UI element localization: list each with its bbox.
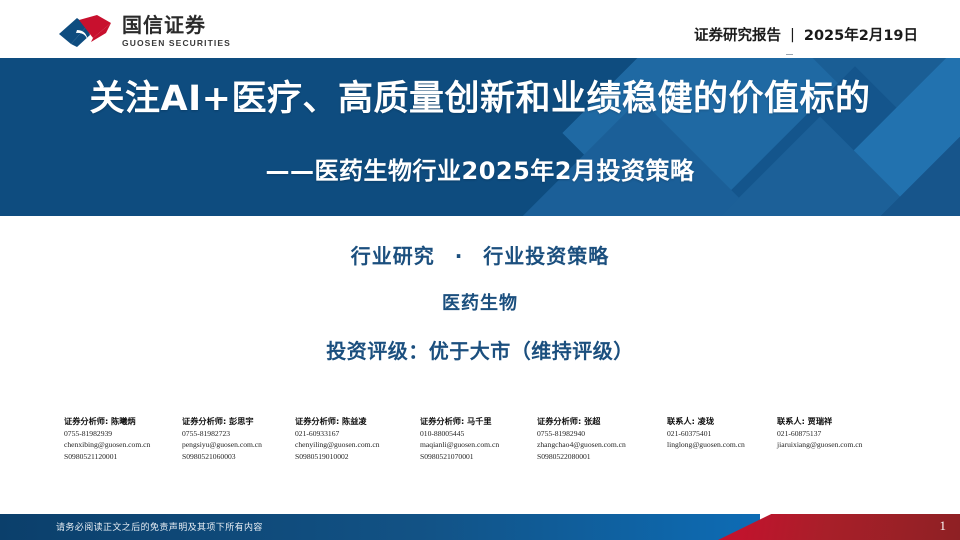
research-category: 行业研究	[351, 244, 435, 268]
title-banner: 关注AI+医疗、高质量创新和业绩稳健的价值标的 ——医药生物行业2025年2月投…	[0, 58, 960, 216]
brand-name-cn: 国信证券	[122, 15, 231, 35]
analyst-card: 证券分析师: 张超 0755-81982940 zhangchao4@guose…	[537, 415, 667, 463]
analyst-email[interactable]: chenyiling@guosen.com.cn	[295, 439, 414, 451]
brand-logo: 国信证券 GUOSEN SECURITIES	[57, 14, 231, 48]
header-report-meta: 证券研究报告 | 2025年2月19日	[694, 24, 918, 45]
analyst-name: 证券分析师: 陈益凌	[295, 415, 414, 428]
analyst-license: S0980521070001	[420, 451, 531, 463]
contact-name: 联系人: 贾瑞祥	[777, 415, 898, 428]
contact-email[interactable]: linglong@guosen.com.cn	[667, 439, 771, 451]
analyst-phone: 0755-81982939	[64, 428, 176, 440]
analyst-card: 证券分析师: 陈曦炳 0755-81982939 chenxibing@guos…	[64, 415, 182, 463]
analyst-name: 证券分析师: 马千里	[420, 415, 531, 428]
analyst-email[interactable]: zhangchao4@guosen.com.cn	[537, 439, 661, 451]
analyst-name: 证券分析师: 张超	[537, 415, 661, 428]
analyst-phone: 010-88005445	[420, 428, 531, 440]
brand-name-en: GUOSEN SECURITIES	[122, 39, 231, 48]
page-number: 1	[940, 518, 947, 534]
header-tick-mark	[786, 54, 793, 55]
header-separator: |	[790, 27, 795, 43]
analyst-name: 证券分析师: 陈曦炳	[64, 415, 176, 428]
research-category-line: 行业研究 · 行业投资策略	[0, 240, 960, 269]
contact-phone: 021-60875137	[777, 428, 898, 440]
analyst-card: 证券分析师: 马千里 010-88005445 maqianli@guosen.…	[420, 415, 537, 463]
contact-name: 联系人: 凌珑	[667, 415, 771, 428]
report-meta-block: 行业研究 · 行业投资策略 医药生物 投资评级：优于大市（维持评级）	[0, 240, 960, 364]
analyst-license: S0980521060003	[182, 451, 289, 463]
report-subtitle: ——医药生物行业2025年2月投资策略	[0, 151, 960, 186]
analyst-phone: 0755-81982940	[537, 428, 661, 440]
sector-name: 医药生物	[0, 289, 960, 315]
analyst-license: S0980519010002	[295, 451, 414, 463]
contact-card: 联系人: 凌珑 021-60375401 linglong@guosen.com…	[667, 415, 777, 451]
analyst-name: 证券分析师: 彭思宇	[182, 415, 289, 428]
contact-phone: 021-60375401	[667, 428, 771, 440]
analyst-phone: 0755-81982723	[182, 428, 289, 440]
research-strategy-label: 行业投资策略	[483, 244, 609, 268]
analyst-email[interactable]: pengsiyu@guosen.com.cn	[182, 439, 289, 451]
brand-wordmark: 国信证券 GUOSEN SECURITIES	[122, 15, 231, 48]
category-separator-dot: ·	[455, 244, 464, 268]
contact-card: 联系人: 贾瑞祥 021-60875137 jiaruixiang@guosen…	[777, 415, 904, 451]
analyst-license: S0980521120001	[64, 451, 176, 463]
analyst-card: 证券分析师: 彭思宇 0755-81982723 pengsiyu@guosen…	[182, 415, 295, 463]
analyst-license: S0980522080001	[537, 451, 661, 463]
analyst-card: 证券分析师: 陈益凌 021-60933167 chenyiling@guose…	[295, 415, 420, 463]
report-title: 关注AI+医疗、高质量创新和业绩稳健的价值标的	[0, 80, 960, 119]
report-type-label: 证券研究报告	[694, 24, 781, 45]
analyst-email[interactable]: chenxibing@guosen.com.cn	[64, 439, 176, 451]
contact-email[interactable]: jiaruixiang@guosen.com.cn	[777, 439, 898, 451]
analyst-contact-list: 证券分析师: 陈曦炳 0755-81982939 chenxibing@guos…	[64, 415, 904, 463]
guosen-logo-icon	[57, 14, 113, 48]
investment-rating: 投资评级：优于大市（维持评级）	[0, 335, 960, 364]
report-date: 2025年2月19日	[804, 24, 918, 45]
footer-disclaimer: 请务必阅读正文之后的免责声明及其项下所有内容	[56, 520, 263, 533]
analyst-email[interactable]: maqianli@guosen.com.cn	[420, 439, 531, 451]
page-header: 国信证券 GUOSEN SECURITIES 证券研究报告 | 2025年2月1…	[0, 0, 960, 58]
page-footer: 请务必阅读正文之后的免责声明及其项下所有内容 1	[0, 514, 960, 540]
analyst-phone: 021-60933167	[295, 428, 414, 440]
